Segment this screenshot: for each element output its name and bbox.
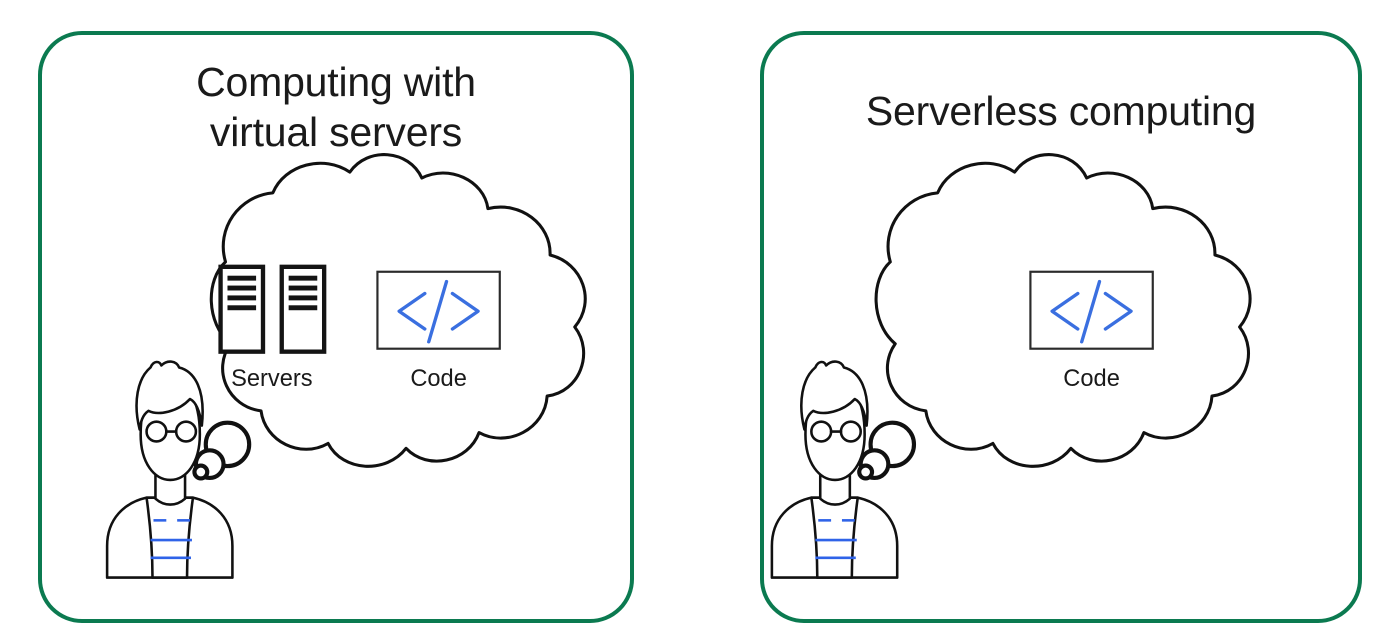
- servers-icon-label: Servers: [231, 366, 313, 392]
- scene-left: Servers Code: [42, 35, 630, 619]
- thought-trail-left: [194, 423, 249, 479]
- code-icon-label: Code: [1063, 366, 1120, 392]
- panel-computing-with-virtual-servers: Computing with virtual servers: [38, 31, 634, 623]
- panel-serverless-computing: Serverless computing: [760, 31, 1362, 623]
- code-icon-label: Code: [410, 366, 467, 392]
- code-icon: [377, 272, 499, 349]
- thought-trail-right: [859, 423, 914, 479]
- code-icon: [1030, 272, 1152, 349]
- diagram-canvas: Computing with virtual servers: [0, 0, 1400, 643]
- servers-icon: [221, 267, 325, 352]
- scene-right: Code: [764, 35, 1358, 619]
